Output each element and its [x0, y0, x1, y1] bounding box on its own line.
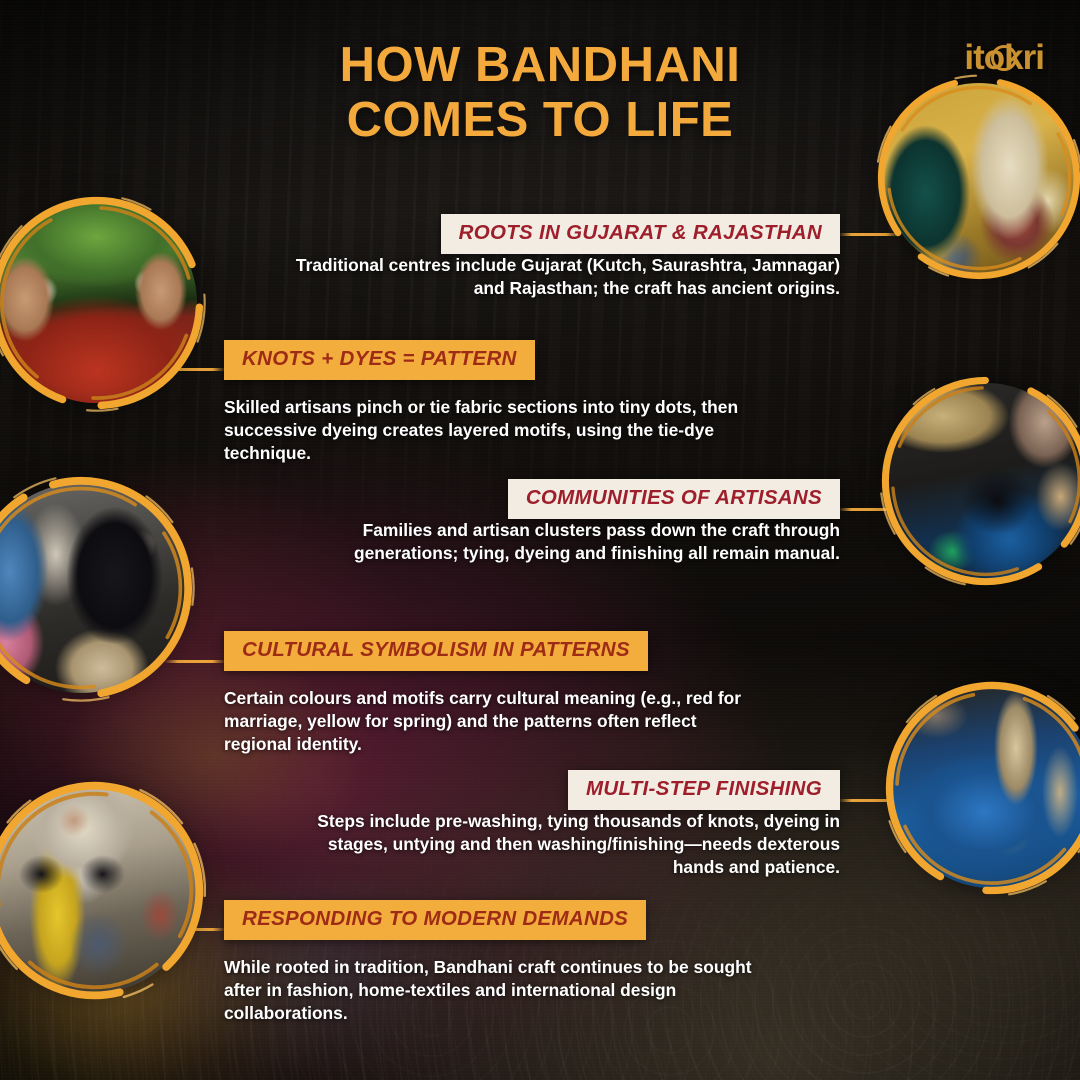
logo-circle-icon	[991, 45, 1017, 71]
section-communities: COMMUNITIES OF ARTISANS Families and art…	[300, 479, 840, 565]
photo-woman-tying-fabric	[0, 483, 186, 693]
connector-finishing	[838, 799, 900, 802]
section-knots: KNOTS + DYES = PATTERN Skilled artisans …	[224, 340, 754, 465]
section-heading-knots[interactable]: KNOTS + DYES = PATTERN	[224, 340, 535, 380]
photo-man-yellow-skeins	[0, 788, 197, 993]
page-title-line-2: COMES TO LIFE	[0, 93, 1080, 148]
brand-logo-text: itokri	[964, 40, 1044, 75]
section-body-modern: While rooted in tradition, Bandhani craf…	[224, 956, 769, 1025]
section-body-roots: Traditional centres include Gujarat (Kut…	[280, 254, 840, 300]
section-body-symbolism: Certain colours and motifs carry cultura…	[224, 687, 764, 756]
section-heading-modern[interactable]: RESPONDING TO MODERN DEMANDS	[224, 900, 646, 940]
infographic-canvas: HOW BANDHANI COMES TO LIFE itokri	[0, 0, 1080, 1080]
photo-disc	[892, 688, 1080, 888]
section-body-finishing: Steps include pre-washing, tying thousan…	[300, 810, 840, 879]
brand-logo[interactable]: itokri	[964, 40, 1044, 75]
photo-hands-tying-red-cloth	[0, 203, 197, 403]
page-title-line-1: HOW BANDHANI	[0, 38, 1080, 93]
page-title: HOW BANDHANI COMES TO LIFE	[0, 38, 1080, 149]
photo-disc	[0, 483, 186, 693]
photo-disc	[888, 383, 1080, 579]
photo-dyer-blue-vat	[888, 383, 1080, 579]
photo-dye-vat-closeup	[892, 688, 1080, 888]
section-heading-roots[interactable]: ROOTS IN GUJARAT & RAJASTHAN	[441, 214, 840, 254]
section-heading-communities[interactable]: COMMUNITIES OF ARTISANS	[508, 479, 840, 519]
section-heading-symbolism[interactable]: CULTURAL SYMBOLISM IN PATTERNS	[224, 631, 648, 671]
section-symbolism: CULTURAL SYMBOLISM IN PATTERNS Certain c…	[224, 631, 764, 756]
section-roots: ROOTS IN GUJARAT & RAJASTHAN Traditional…	[280, 214, 840, 300]
section-heading-finishing[interactable]: MULTI-STEP FINISHING	[568, 770, 840, 810]
section-finishing: MULTI-STEP FINISHING Steps include pre-w…	[300, 770, 840, 879]
photo-disc	[0, 788, 197, 993]
photo-disc	[0, 203, 197, 403]
section-body-communities: Families and artisan clusters pass down …	[300, 519, 840, 565]
section-body-knots: Skilled artisans pinch or tie fabric sec…	[224, 396, 754, 465]
section-modern: RESPONDING TO MODERN DEMANDS While roote…	[224, 900, 769, 1025]
